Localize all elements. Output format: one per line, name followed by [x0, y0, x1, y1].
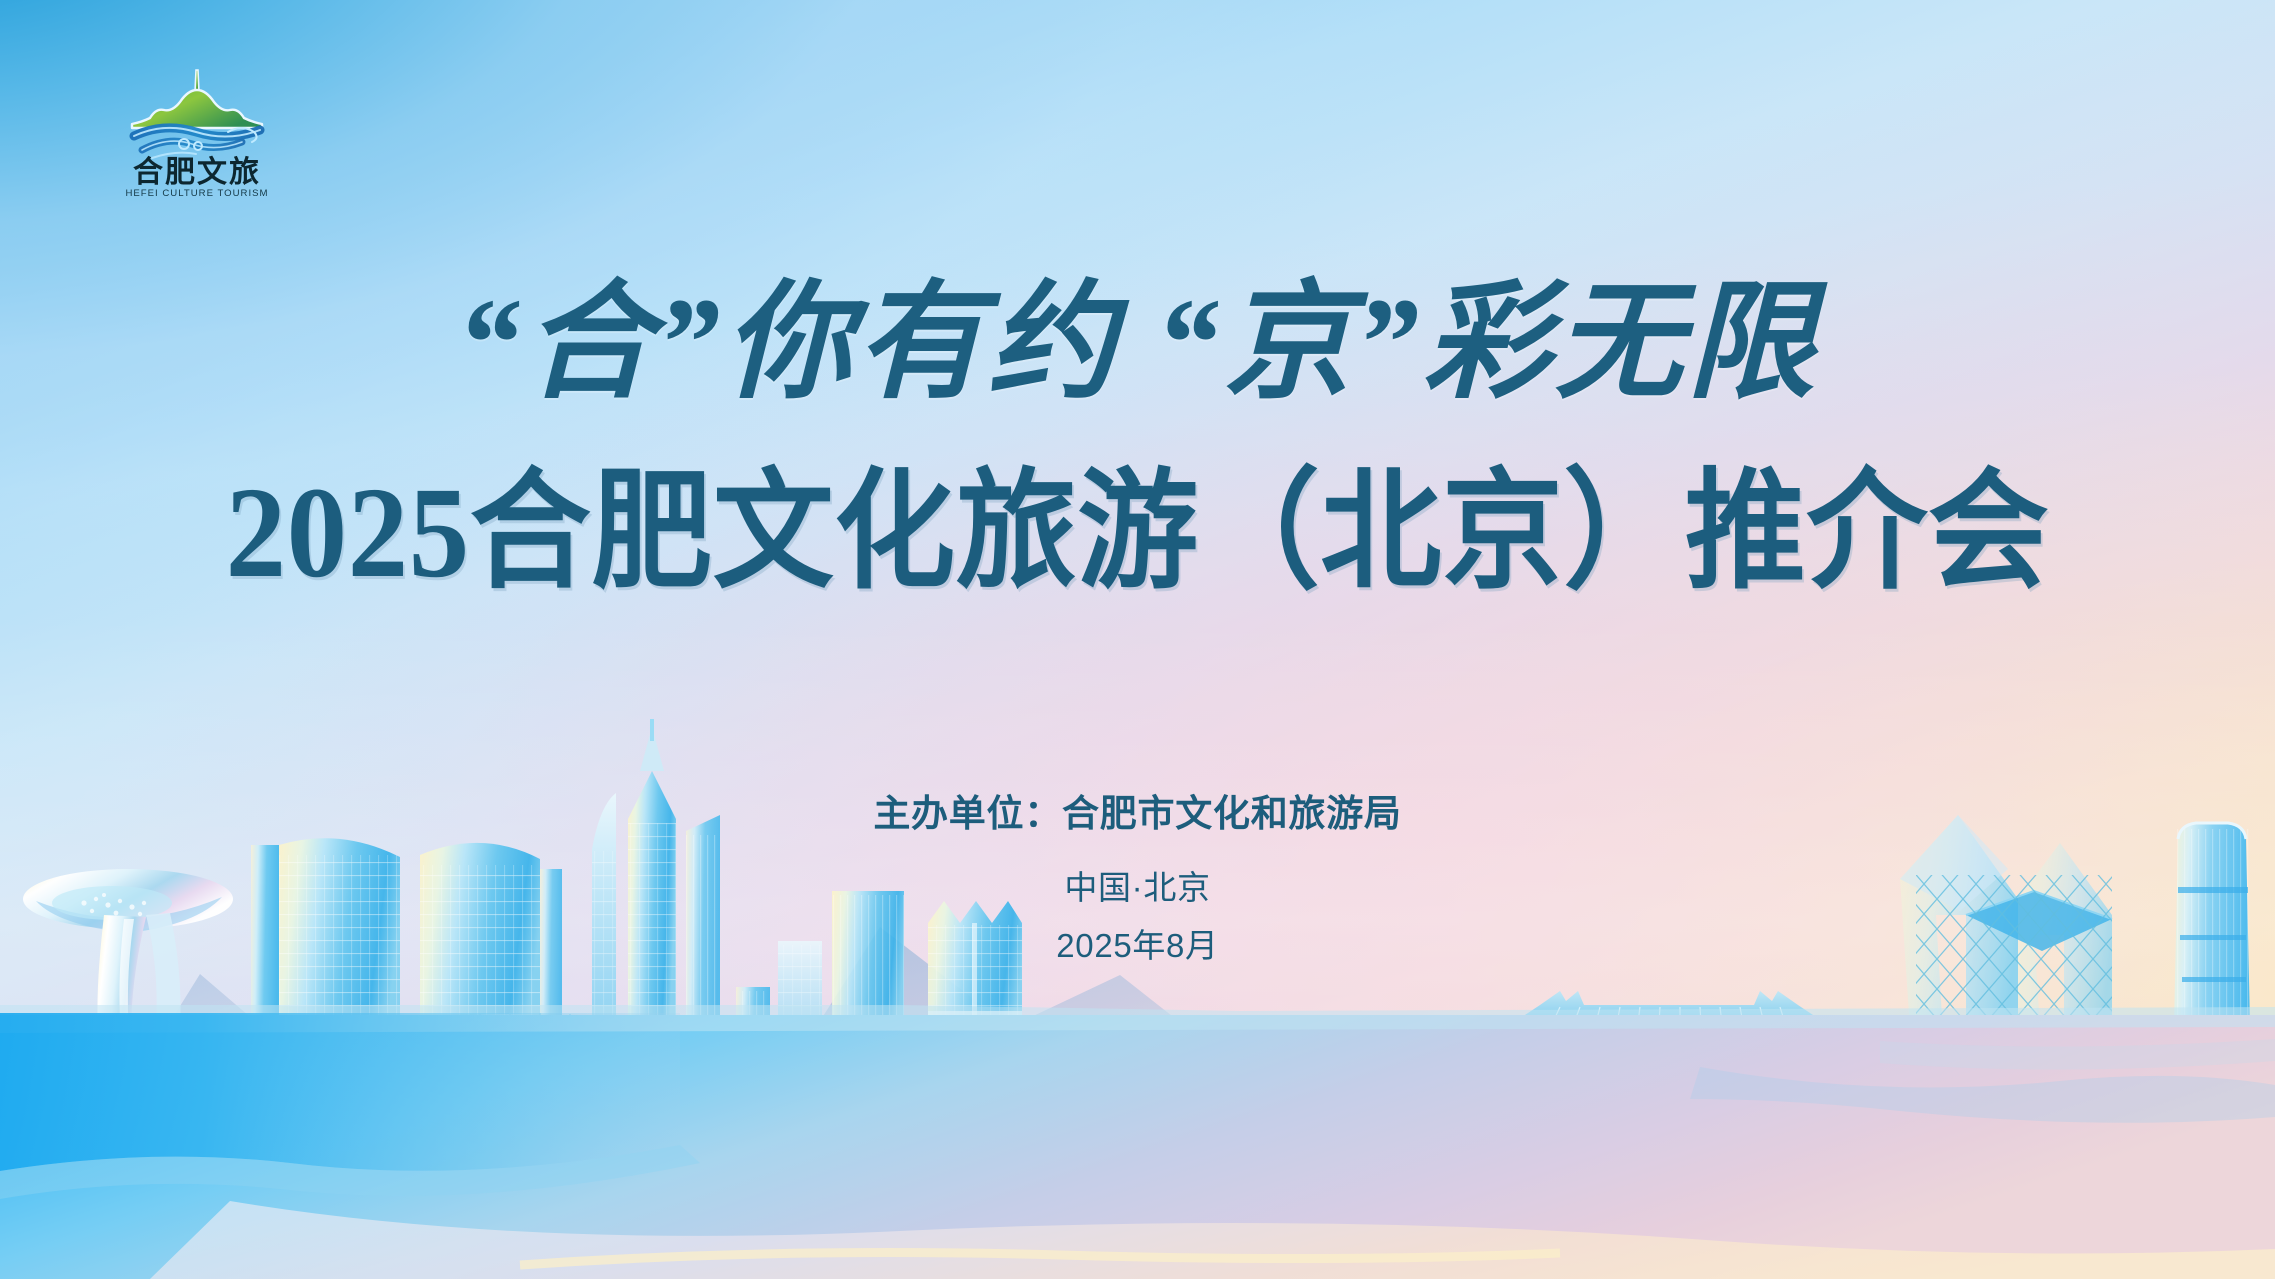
poster-credits: 主办单位：合肥市文化和旅游局 中国·北京 2025年8月	[0, 795, 2275, 962]
logo-english-wordmark: HEFEI CULTURE TOURISM	[125, 188, 268, 198]
logo-artwork: 合肥文旅 HEFEI CULTURE TOURISM	[92, 58, 302, 198]
water-foreground	[0, 949, 2275, 1279]
hefei-culture-tourism-logo: 合肥文旅 HEFEI CULTURE TOURISM	[92, 58, 302, 198]
credits-location: 中国·北京	[0, 871, 2275, 904]
credits-organizer: 主办单位：合肥市文化和旅游局	[0, 795, 2275, 832]
logo-wave-mark	[134, 128, 260, 158]
poster-subheadline: 2025合肥文化旅游（北京）推介会	[80, 468, 2196, 598]
poster-headline: “合”你有约 “京”彩无限	[0, 276, 2275, 412]
logo-mountain-mark	[132, 70, 262, 128]
logo-chinese-wordmark: 合肥文旅	[133, 155, 261, 189]
credits-date: 2025年8月	[0, 929, 2275, 962]
poster-canvas: 合肥文旅 HEFEI CULTURE TOURISM “合”你有约 “京”彩无限…	[0, 0, 2275, 1279]
